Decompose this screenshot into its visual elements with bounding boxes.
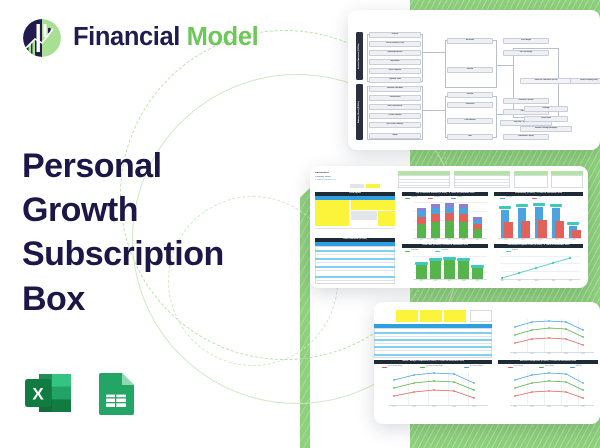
legend-label: Revenue [506,197,512,199]
file-format-icons: X [22,367,142,419]
rowline [374,336,492,337]
diagram-connector [423,52,445,53]
bar-segment [473,217,482,220]
diagram-node: Return on Total Assets (ROTA) 38.3% [520,78,572,84]
chart-x-axis [510,405,594,406]
x-tick: 2025 [471,240,484,242]
highlight-row [374,339,492,341]
diagram-node: Gross Margin 64.0% [503,38,549,44]
brand-name: Financial Model [73,25,258,51]
table-column-headers [315,242,395,246]
chart-title-ebitda-comparison: EBITDA Comparison ($ 000s) - 5 Years to … [498,360,598,364]
bar-segment [431,222,440,238]
rowline [315,228,395,229]
data-label: 70 [499,206,511,209]
legend-swatch [405,198,410,199]
diagram-node: Revenue 125,000 [447,92,493,98]
data-label: 80 [550,204,562,207]
chart-x-axis [498,238,582,239]
page-title: Personal Growth Subscription Box [22,144,272,321]
bar [555,221,564,238]
calc-cells [351,211,377,220]
dashboard-subtitle: Company Name [315,176,331,178]
legend-label: Operating Income Margin [426,366,443,368]
legend-label: Costs [538,197,542,199]
x-tick: 2022 [513,281,526,283]
input-cells-yellow[interactable] [351,200,395,210]
diagram-node: Total Asset Turnover 1.25 [503,98,549,104]
legend-swatch [420,367,425,368]
chart-title-profitability: Profitability ($ 000s) - 5 Years to Dece… [494,192,583,196]
x-tick: 2021 [499,240,513,242]
data-label: 82 [533,203,545,206]
bar-segment [459,204,468,208]
bar-segment [431,208,440,214]
legend-label: Cost of Sales [514,366,523,368]
diagram-sidebar-label-income-statement: Income Statement ($ 000s) [356,32,363,80]
promo-banner: Financial Model Personal Growth Subscrip… [0,0,600,448]
diagram-node: Revenue 125,000 [447,67,493,73]
x-tick: 2024 [457,240,470,242]
rowline [374,343,492,344]
gross-margin-line-series [388,370,488,406]
x-tick: 2021 [508,354,522,356]
rowline [374,350,492,351]
brand-name-part1: Financial [73,23,180,51]
rowline [398,182,450,183]
diagram-node: Debt 30,000 [447,134,493,140]
legend-label: Cumulative [441,250,449,252]
x-tick: 2023 [530,281,543,283]
legend-label: Gross Margin [545,366,554,368]
data-label: 78 [516,204,528,207]
diagram-node: Leverage 1.92x [524,106,568,112]
bar-segment [417,208,426,211]
x-tick: 2022 [429,281,442,283]
x-tick: 2021 [415,281,428,283]
x-tick: 2025 [576,354,590,356]
x-tick: 2024 [559,407,573,409]
x-tick: 2023 [542,354,556,356]
bar [538,220,547,238]
highlight-row [315,258,395,260]
legend-swatch [506,251,511,252]
x-tick: 2024 [559,354,573,356]
bar [504,222,513,238]
x-tick: 2022 [525,354,539,356]
bar-segment [473,224,482,229]
preview-financial-ratios-charts[interactable]: Gross / Margin / Expenses ($ 000s) - 5 Y… [374,302,600,424]
legend-swatch [500,198,505,199]
x-tick: 2022 [407,407,421,409]
bar-segment [445,207,454,213]
chart-title-gross-margin: Gross / Margin / Expenses ($ 000s) - 5 Y… [374,360,492,364]
diagram-connector [423,110,445,111]
legend-swatch [382,367,387,368]
legend-label: Stream C [457,197,463,199]
legend-label: Stream B [434,197,440,199]
x-tick: 2025 [567,240,581,242]
rowline [454,179,510,180]
diagram-group-3 [445,40,497,88]
rowline [454,182,510,183]
x-tick: 2022 [525,407,539,409]
diagram-node: Total Liabilities 48,000 [447,118,493,124]
google-sheets-icon[interactable] [90,367,142,419]
chart-x-axis [510,352,594,353]
x-tick: 2023 [443,281,456,283]
x-tick: 2023 [533,240,547,242]
bar-segment [417,224,426,238]
bar-segment [417,217,426,224]
bar-segment [473,229,482,238]
highlight-row [315,276,395,278]
chart-title-cash-flow: Cash Flow ($ 000s) - 5 Years to December… [402,244,488,248]
table-column-headers [315,196,395,200]
left-content-column: Financial Model Personal Growth Subscrip… [22,0,292,448]
diagram-node: Current Assets 32,000 [369,95,421,101]
bar-segment [417,211,426,217]
legend-swatch [451,198,456,199]
data-label: 30 [567,222,579,225]
highlight-row [315,266,395,268]
input-cells-yellow[interactable] [444,310,466,322]
legend-swatch [570,367,575,368]
rowline [398,185,450,186]
chart-title-revenue-streams: Top 5 Revenue Streams ($ 000s) - 5 Years… [402,192,488,196]
x-tick: 2025 [467,407,481,409]
diagram-sidebar-label-balance-sheet: Balance Sheet ($ 000s) [356,84,363,140]
diagram-node: Total Assets 100,000 [447,102,493,108]
data-label: 52 [415,262,428,265]
summary-table-c [514,175,548,188]
diagram-node: Shareholder's Equity 52,000 [503,134,549,140]
dashboard-toggle-b[interactable] [366,184,380,188]
legend-label: EBITDA [576,366,581,368]
x-tick: 2022 [429,240,442,242]
diagram-node: Current Liabilities 18,000 [369,113,421,119]
bar [521,221,530,238]
x-tick: 2023 [542,407,556,409]
diagram-node: Financial Leverage (multiplier) 1.92 [520,126,572,132]
diagram-node: Operating Expenses 27,500 [369,50,421,56]
rowline [315,262,395,263]
legend-label: Net Income Margin [470,366,483,368]
bar [430,261,441,279]
bar [572,230,581,238]
diagram-node: Equity 52,000 [369,133,421,139]
x-tick: 2023 [427,407,441,409]
bar-segment [431,204,440,208]
legend-swatch [508,367,513,368]
bar-segment [459,208,468,214]
rowline [454,185,510,186]
bar-segment [431,214,440,222]
legend-label: Stream A [411,197,417,199]
input-cells-yellow[interactable] [315,200,349,226]
chart-x-axis [413,238,487,239]
diagram-node: Accounts Receivable 8,500 [369,86,421,92]
diagram-node: Interest Expense 2,250 [369,68,421,74]
bar [458,261,469,279]
legend-swatch [435,251,440,252]
chart-title-investment-payback: Investment Payback Chart ($ 000s) - 5 Ye… [494,244,583,248]
payback-line-series [494,254,583,282]
data-label: 42 [471,265,484,268]
x-tick: 2023 [443,240,456,242]
dashboard-note: 5 Years to December 2025 [315,179,336,181]
input-cells-yellow[interactable] [396,310,418,322]
x-tick: 2025 [576,407,590,409]
chart-x-axis [413,279,487,280]
bar-segment [445,213,454,221]
diagram-node: Non-Current Assets 68,000 [369,104,421,110]
diagram-node: Net Income 38,250 [447,38,493,44]
x-tick: 2021 [508,407,522,409]
diagram-node: Net Profit Margin 30.6% [503,50,549,56]
legend-swatch [532,198,537,199]
x-tick: 2025 [564,281,577,283]
dashboard-toggle-a[interactable] [350,184,364,188]
x-tick: 2024 [447,407,461,409]
input-cells-yellow[interactable] [378,211,395,226]
x-tick: 2021 [415,240,428,242]
diagram-node: Depreciation 5,500 [369,59,421,65]
preview-dashboard-overview[interactable]: Dashboard Company Name 5 Years to Decemb… [310,166,588,288]
preview-dupont-analysis-diagram[interactable]: Income Statement ($ 000s) Balance Sheet … [348,10,600,150]
rowline [398,179,450,180]
x-tick: 2024 [457,281,470,283]
bar-segment [445,203,454,207]
highlight-row [374,332,492,334]
legend-label: Payback [512,250,518,252]
legend-swatch [464,367,469,368]
rowline [315,254,395,255]
dashboard-title: Dashboard [315,172,329,174]
ebitda-top-line-series [510,318,596,352]
input-cells-yellow[interactable] [420,310,442,322]
table-total-row: Total [316,229,319,231]
legend-swatch [405,251,410,252]
brand-logo[interactable]: Financial Model [22,0,292,58]
microsoft-excel-icon[interactable]: X [22,367,74,419]
legend-label: Gross Income Margin [388,366,402,368]
calc-cells [470,310,492,322]
bar-segment [459,214,468,222]
data-label: 70 [443,257,456,260]
bar [472,268,483,279]
highlight-row [374,354,492,356]
svg-text:X: X [32,385,44,404]
legend-swatch [539,367,544,368]
x-tick: 2021 [387,407,401,409]
bar [444,260,455,279]
diagram-node: Current Ratio 1.78 [524,116,568,122]
x-tick: 2025 [471,281,484,283]
data-label: 68 [457,258,470,261]
legend-label: Cash Flow [411,250,418,252]
x-tick: 2022 [516,240,530,242]
x-tick: 2024 [547,281,560,283]
x-tick: 2021 [496,281,509,283]
x-tick: 2024 [550,240,564,242]
summary-table-d [551,175,583,188]
rowline [315,280,395,281]
ebitda-comparison-line-series [510,370,596,405]
diagram-node: Cost of Revenue (COGS) 45,000 [369,41,421,47]
highlight-row [374,346,492,348]
financial-model-circle-chart-logo [22,18,62,58]
data-label: 66 [429,258,442,261]
diagram-node: Revenue 125,000 [369,32,421,38]
brand-name-part2: Model [187,23,259,51]
diagram-node: Non-Current Liabilities 30,000 [369,122,421,128]
bar-segment [473,220,482,224]
diagram-node: Corporate Taxes 10,500 [369,77,421,83]
bar [416,265,427,279]
bar-segment [459,222,468,238]
bar-segment [445,221,454,238]
diagram-node-roe: Return on Equity (ROE) 73.6% [570,78,600,84]
diagram-connector [497,65,513,66]
highlight-row [315,250,395,252]
legend-swatch [428,198,433,199]
rowline [315,270,395,271]
